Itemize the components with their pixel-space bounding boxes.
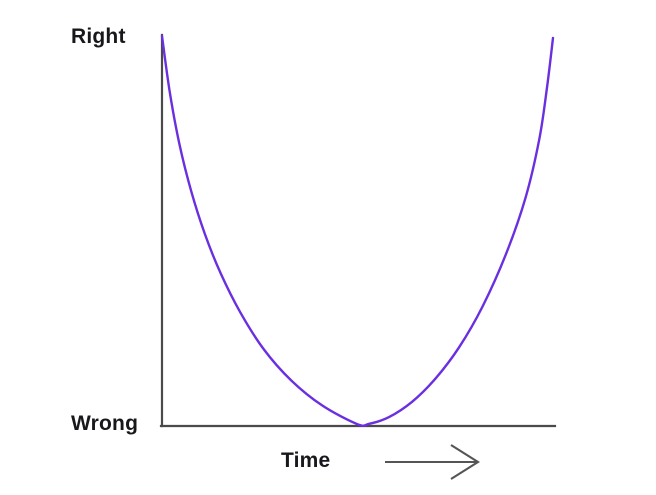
y-axis-top-label: Right — [71, 25, 126, 49]
chart-figure: Right Wrong Time — [0, 0, 656, 495]
data-curve-accuracy-over-time — [162, 36, 553, 426]
y-axis-bottom-label: Wrong — [71, 412, 138, 436]
x-axis-label: Time — [281, 449, 330, 473]
